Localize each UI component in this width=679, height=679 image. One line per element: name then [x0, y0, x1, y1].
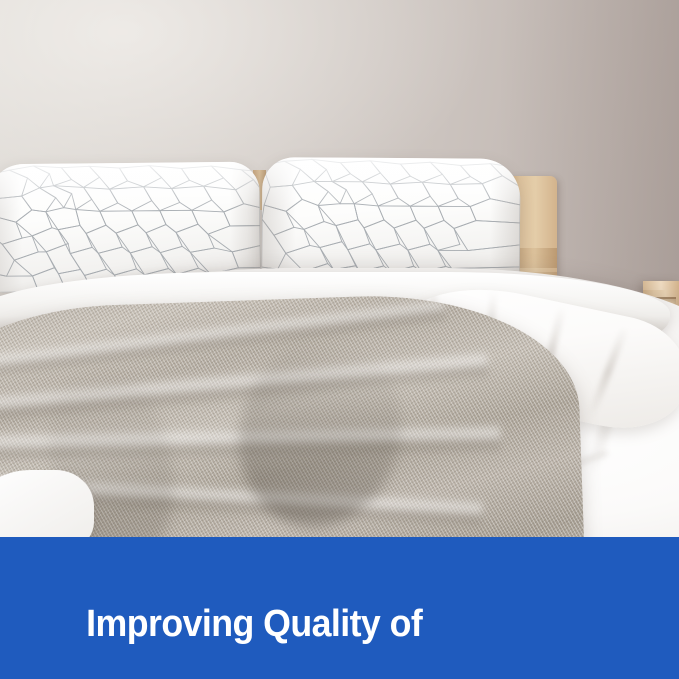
pillow-shading-left	[0, 164, 23, 292]
product-lifestyle-banner: Improving Quality of Life Starts with a …	[0, 0, 679, 679]
nightstand-top	[643, 281, 679, 290]
bolster-fold	[587, 326, 629, 418]
duvet-lower-left-corner	[0, 470, 94, 537]
bedroom-photo	[0, 0, 679, 537]
promo-banner: Improving Quality of Life Starts with a …	[0, 537, 679, 679]
banner-headline-line-1: Improving Quality of	[86, 603, 422, 645]
banner-headline: Improving Quality of Life Starts with a …	[30, 558, 508, 679]
